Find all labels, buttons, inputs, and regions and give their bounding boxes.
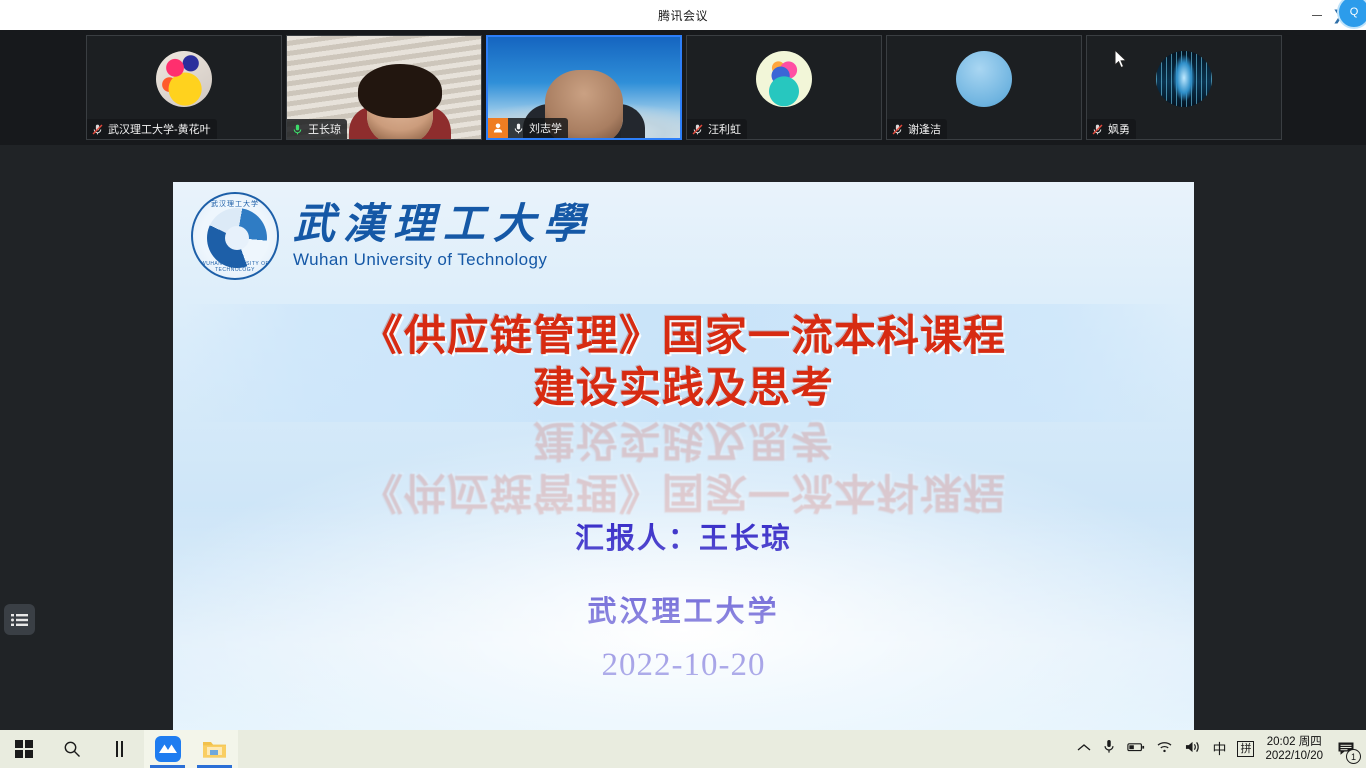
avatar bbox=[956, 51, 1012, 107]
window-controls: ❯ Q bbox=[1302, 0, 1362, 30]
host-badge-icon bbox=[488, 118, 508, 138]
university-name-cn: 武漢理工大學 bbox=[293, 202, 593, 248]
system-tray: 中 拼 20:02 周四 2022/10/20 1 bbox=[1077, 730, 1366, 768]
slide-title-line2: 建设实践及思考 bbox=[173, 362, 1194, 414]
participant-namebar: 王长琼 bbox=[287, 119, 347, 139]
slide-date: 2022-10-20 bbox=[173, 647, 1194, 684]
slide-presenter: 汇报人：王长琼 bbox=[173, 515, 1194, 557]
participant-namebar: 㚯勇 bbox=[1087, 119, 1136, 139]
participant-tile-active-speaker[interactable]: 刘志学 bbox=[486, 35, 682, 140]
minimize-button[interactable] bbox=[1302, 0, 1332, 30]
mic-muted-icon bbox=[91, 123, 104, 136]
wifi-icon[interactable] bbox=[1156, 740, 1173, 758]
slide-title-line1: 《供应链管理》国家一流本科课程 bbox=[173, 310, 1194, 362]
window-titlebar: 腾讯会议 ❯ Q bbox=[0, 0, 1366, 30]
battery-icon[interactable] bbox=[1127, 740, 1145, 758]
taskbar-clock[interactable]: 20:02 周四 2022/10/20 bbox=[1265, 735, 1323, 763]
mic-on-icon bbox=[291, 123, 304, 136]
taskbar-app-file-explorer[interactable] bbox=[191, 730, 238, 768]
avatar bbox=[156, 51, 212, 107]
ime-pinyin-indicator[interactable]: 拼 bbox=[1237, 741, 1254, 757]
file-explorer-icon bbox=[202, 737, 228, 761]
participant-namebar: 汪利虹 bbox=[687, 119, 747, 139]
search-icon[interactable] bbox=[48, 730, 96, 768]
mic-on-icon bbox=[512, 122, 525, 135]
participant-namebar: 武汉理工大学-黄花叶 bbox=[87, 119, 217, 139]
participants-list-toggle-button[interactable] bbox=[4, 604, 35, 635]
screen: 腾讯会议 ❯ Q bbox=[0, 0, 1366, 768]
notifications-icon[interactable]: 1 bbox=[1334, 737, 1358, 761]
participant-name: 王长琼 bbox=[308, 121, 341, 137]
chevron-up-icon[interactable] bbox=[1077, 740, 1091, 758]
taskbar-app-tencent-meeting[interactable] bbox=[144, 730, 191, 768]
volume-icon[interactable] bbox=[1184, 740, 1201, 759]
participant-tile[interactable]: 汪利虹 bbox=[686, 35, 882, 140]
university-logo: 武汉理工大学 WUHAN UNIVERSITY OF TECHNOLOGY 武漢… bbox=[191, 192, 593, 280]
slide-title-reflection: 《供应链管理》国家一流本科课程 建设实践及思考 bbox=[173, 414, 1194, 518]
meeting-area: 武汉理工大学-黄花叶 王长琼 bbox=[0, 30, 1366, 730]
participant-name: 汪利虹 bbox=[708, 121, 741, 137]
seal-bottom-text: WUHAN UNIVERSITY OF TECHNOLOGY bbox=[193, 261, 277, 273]
participant-name: 武汉理工大学-黄花叶 bbox=[108, 121, 211, 137]
clock-date: 2022/10/20 bbox=[1265, 749, 1323, 763]
participant-tile[interactable]: 谢逢洁 bbox=[886, 35, 1082, 140]
participant-name: 㚯勇 bbox=[1108, 121, 1130, 137]
tencent-meeting-icon bbox=[155, 736, 181, 762]
participant-tile[interactable]: 王长琼 bbox=[286, 35, 482, 140]
participant-filmstrip: 武汉理工大学-黄花叶 王长琼 bbox=[0, 30, 1366, 145]
avatar bbox=[756, 51, 812, 107]
slide-affiliation: 武汉理工大学 bbox=[173, 588, 1194, 630]
windows-taskbar: 中 拼 20:02 周四 2022/10/20 1 bbox=[0, 730, 1366, 768]
shared-screen-slide: 武汉理工大学 WUHAN UNIVERSITY OF TECHNOLOGY 武漢… bbox=[173, 182, 1194, 757]
avatar bbox=[1156, 51, 1212, 107]
window-title: 腾讯会议 bbox=[658, 7, 708, 24]
university-name-en: Wuhan University of Technology bbox=[293, 250, 593, 270]
participant-name: 刘志学 bbox=[529, 120, 562, 136]
task-view-icon[interactable] bbox=[96, 730, 144, 768]
ime-mode-indicator[interactable]: 中 bbox=[1212, 739, 1226, 759]
list-icon bbox=[11, 613, 28, 627]
clock-time: 20:02 周四 bbox=[1265, 735, 1323, 749]
mic-muted-icon bbox=[691, 123, 704, 136]
participant-tile[interactable]: 武汉理工大学-黄花叶 bbox=[86, 35, 282, 140]
windows-start-icon[interactable] bbox=[0, 730, 48, 768]
notifications-count: 1 bbox=[1346, 749, 1361, 764]
mic-muted-icon bbox=[891, 123, 904, 136]
participant-name: 谢逢洁 bbox=[908, 121, 941, 137]
participant-namebar: 谢逢洁 bbox=[887, 119, 947, 139]
mic-icon[interactable] bbox=[1102, 738, 1116, 760]
mic-muted-icon bbox=[1091, 123, 1104, 136]
university-seal-icon: 武汉理工大学 WUHAN UNIVERSITY OF TECHNOLOGY bbox=[191, 192, 279, 280]
person-silhouette bbox=[367, 71, 433, 140]
slide-title: 《供应链管理》国家一流本科课程 建设实践及思考 《供应链管理》国家一流本科课程 … bbox=[173, 310, 1194, 414]
mouse-cursor bbox=[1114, 50, 1128, 70]
